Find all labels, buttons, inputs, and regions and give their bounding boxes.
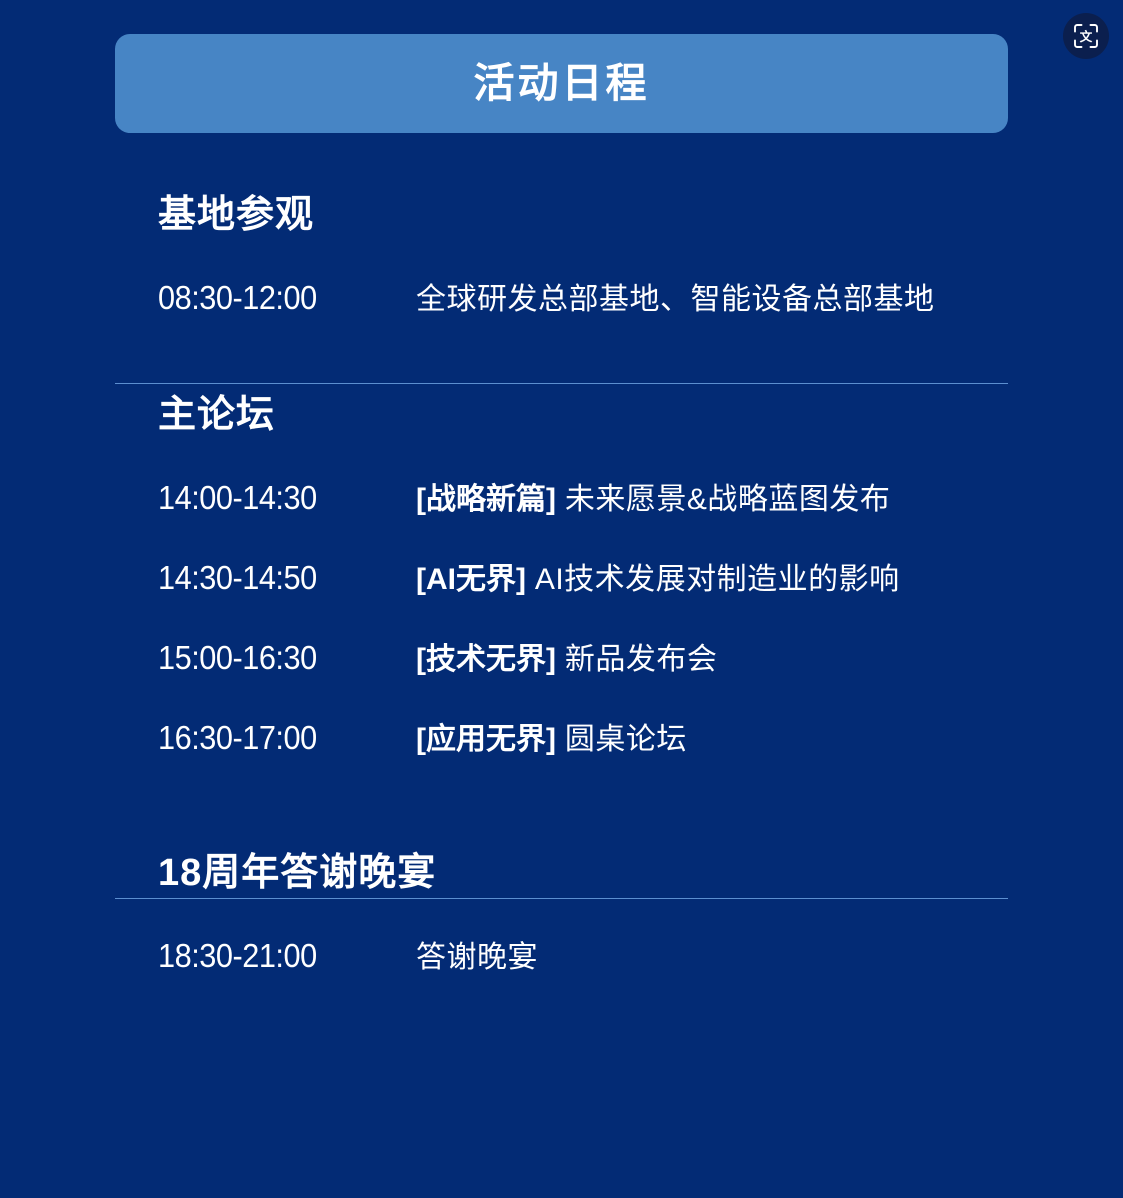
- schedule-section-anniversary-dinner: 18周年答谢晚宴 18:30-21:00 答谢晚宴: [0, 794, 1123, 992]
- row-tag: [应用无界]: [416, 723, 556, 756]
- section-divider: [115, 898, 1008, 899]
- schedule-row: 18:30-21:00 答谢晚宴: [158, 932, 1123, 992]
- row-tag: [技术无界]: [416, 643, 556, 676]
- page-title: 活动日程: [474, 63, 650, 104]
- section-rows: 08:30-12:00 全球研发总部基地、智能设备总部基地: [0, 234, 1123, 334]
- row-desc-text: 未来愿景&战略蓝图发布: [565, 483, 891, 516]
- schedule-row: 15:00-16:30 [技术无界] 新品发布会: [158, 634, 1123, 714]
- schedule-row: 16:30-17:00 [应用无界] 圆桌论坛: [158, 714, 1123, 794]
- row-description: [AI无界] AI技术发展对制造业的影响: [416, 554, 900, 598]
- row-desc-text: 圆桌论坛: [565, 723, 687, 756]
- row-tag: [AI无界]: [416, 563, 526, 596]
- row-desc-text: 答谢晚宴: [416, 941, 538, 974]
- schedule-row: 08:30-12:00 全球研发总部基地、智能设备总部基地: [158, 274, 1123, 334]
- schedule-row: 14:30-14:50 [AI无界] AI技术发展对制造业的影响: [158, 554, 1123, 634]
- row-time: 15:00-16:30: [158, 639, 398, 677]
- row-description: [技术无界] 新品发布会: [416, 634, 717, 678]
- schedule-section-base-visit: 基地参观 08:30-12:00 全球研发总部基地、智能设备总部基地: [0, 133, 1123, 334]
- row-time: 14:30-14:50: [158, 559, 398, 597]
- row-time: 14:00-14:30: [158, 479, 398, 517]
- section-title: 主论坛: [0, 334, 1123, 434]
- row-description: 答谢晚宴: [416, 932, 538, 976]
- row-desc-text: AI技术发展对制造业的影响: [535, 563, 900, 596]
- row-tag: [战略新篇]: [416, 483, 556, 516]
- row-time: 08:30-12:00: [158, 279, 398, 317]
- section-rows: 18:30-21:00 答谢晚宴: [0, 892, 1123, 992]
- svg-text:文: 文: [1080, 29, 1093, 44]
- row-desc-text: 新品发布会: [565, 643, 718, 676]
- schedule-list: 基地参观 08:30-12:00 全球研发总部基地、智能设备总部基地 主论坛 1…: [0, 133, 1123, 992]
- row-desc-text: 全球研发总部基地、智能设备总部基地: [416, 283, 935, 316]
- translate-scan-icon: 文: [1073, 23, 1099, 49]
- row-time: 18:30-21:00: [158, 937, 398, 975]
- schedule-row: 14:00-14:30 [战略新篇] 未来愿景&战略蓝图发布: [158, 474, 1123, 554]
- row-description: [应用无界] 圆桌论坛: [416, 714, 687, 758]
- schedule-page: 活动日程 基地参观 08:30-12:00 全球研发总部基地、智能设备总部基地 …: [0, 0, 1123, 1198]
- section-divider: [115, 383, 1008, 384]
- translate-scan-button[interactable]: 文: [1063, 13, 1109, 59]
- section-rows: 14:00-14:30 [战略新篇] 未来愿景&战略蓝图发布 14:30-14:…: [0, 434, 1123, 794]
- section-title: 基地参观: [0, 133, 1123, 234]
- schedule-section-main-forum: 主论坛 14:00-14:30 [战略新篇] 未来愿景&战略蓝图发布 14:30…: [0, 334, 1123, 794]
- section-title: 18周年答谢晚宴: [0, 794, 1123, 892]
- row-description: 全球研发总部基地、智能设备总部基地: [416, 274, 935, 318]
- page-header-banner: 活动日程: [115, 34, 1008, 133]
- row-description: [战略新篇] 未来愿景&战略蓝图发布: [416, 474, 890, 518]
- row-time: 16:30-17:00: [158, 719, 398, 757]
